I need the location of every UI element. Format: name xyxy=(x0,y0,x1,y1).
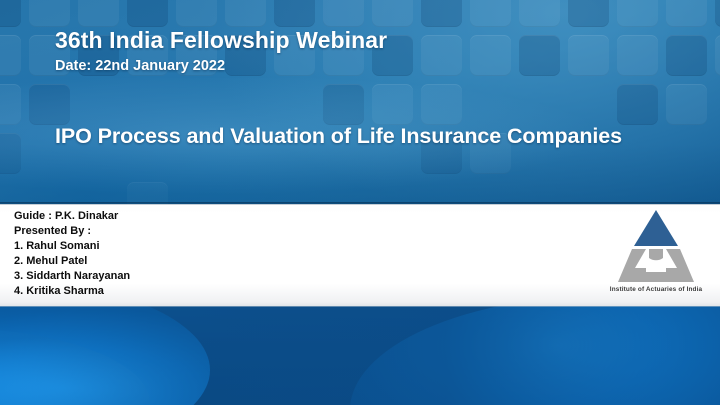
background-tile xyxy=(568,35,609,76)
background-tile xyxy=(78,0,119,27)
background-tile xyxy=(0,0,21,27)
page-title: 36th India Fellowship Webinar xyxy=(55,27,387,54)
presenter-line: 3. Siddarth Narayanan xyxy=(14,269,130,284)
background-tile xyxy=(0,35,21,76)
background-tile xyxy=(127,182,168,204)
header-bottom-fade xyxy=(0,144,720,204)
background-tile xyxy=(568,0,609,27)
presenter-line: Guide : P.K. Dinakar xyxy=(14,209,130,224)
actuaries-triangle-icon xyxy=(616,208,696,284)
credits-band: Guide : P.K. DinakarPresented By :1. Rah… xyxy=(0,204,720,306)
background-tile xyxy=(519,0,560,27)
logo-caption: Institute of Actuaries of India xyxy=(598,286,714,293)
institute-logo: Institute of Actuaries of India xyxy=(598,206,714,304)
presenter-line: Presented By : xyxy=(14,224,130,239)
background-tile xyxy=(29,84,70,125)
background-tile xyxy=(666,0,707,27)
background-tile xyxy=(29,0,70,27)
background-tile xyxy=(470,0,511,27)
background-tile xyxy=(421,35,462,76)
background-tile xyxy=(617,35,658,76)
footer-top-divider xyxy=(0,306,720,307)
background-tile xyxy=(0,133,21,174)
slide-header: 36th India Fellowship Webinar Date: 22nd… xyxy=(0,0,720,204)
presentation-slide: 36th India Fellowship Webinar Date: 22nd… xyxy=(0,0,720,405)
presenter-line: 4. Kritika Sharma xyxy=(14,284,130,299)
background-tile xyxy=(127,0,168,27)
background-tile xyxy=(519,35,560,76)
webinar-date: Date: 22nd January 2022 xyxy=(55,58,225,74)
presenter-line: 2. Mehul Patel xyxy=(14,254,130,269)
background-tile xyxy=(617,84,658,125)
band-top-divider xyxy=(0,204,720,205)
background-tile xyxy=(274,0,315,27)
background-tile xyxy=(421,84,462,125)
background-tile xyxy=(372,84,413,125)
footer-swoosh-right xyxy=(350,306,720,405)
background-tile xyxy=(323,0,364,27)
background-tile xyxy=(421,0,462,27)
background-tile xyxy=(617,0,658,27)
presenter-list: Guide : P.K. DinakarPresented By :1. Rah… xyxy=(14,209,130,299)
slide-footer xyxy=(0,306,720,405)
background-tile xyxy=(666,35,707,76)
background-tile xyxy=(470,35,511,76)
background-tile xyxy=(372,0,413,27)
presentation-subject: IPO Process and Valuation of Life Insura… xyxy=(55,124,622,149)
background-tile xyxy=(0,84,21,125)
background-tile xyxy=(225,0,266,27)
presenter-line: 1. Rahul Somani xyxy=(14,239,130,254)
background-tile xyxy=(715,35,720,76)
background-tile xyxy=(666,84,707,125)
background-tile xyxy=(323,84,364,125)
background-tile xyxy=(176,0,217,27)
background-tile xyxy=(715,0,720,27)
